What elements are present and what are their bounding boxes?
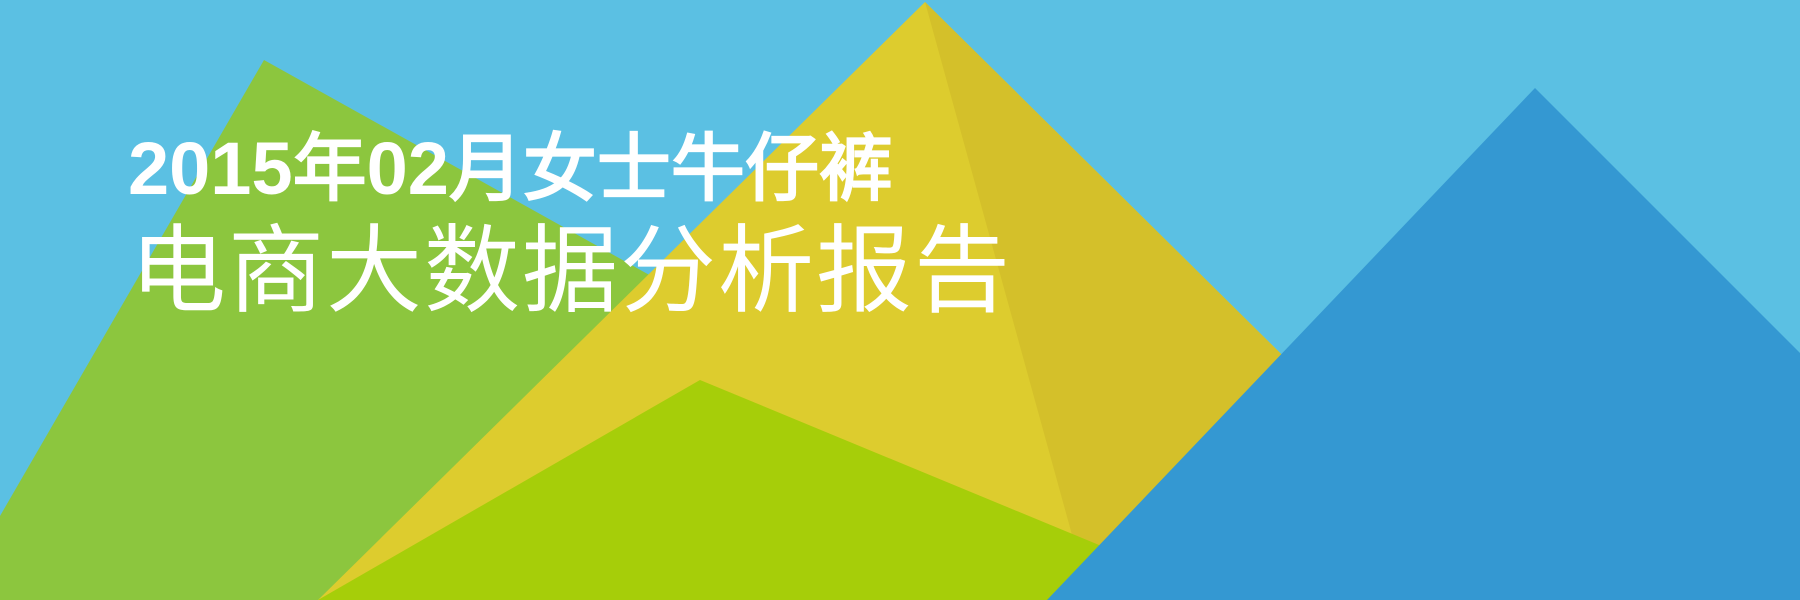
- background-geometry: [0, 0, 1800, 600]
- report-cover-banner: 2015年02月女士牛仔裤 电商大数据分析报告: [0, 0, 1800, 600]
